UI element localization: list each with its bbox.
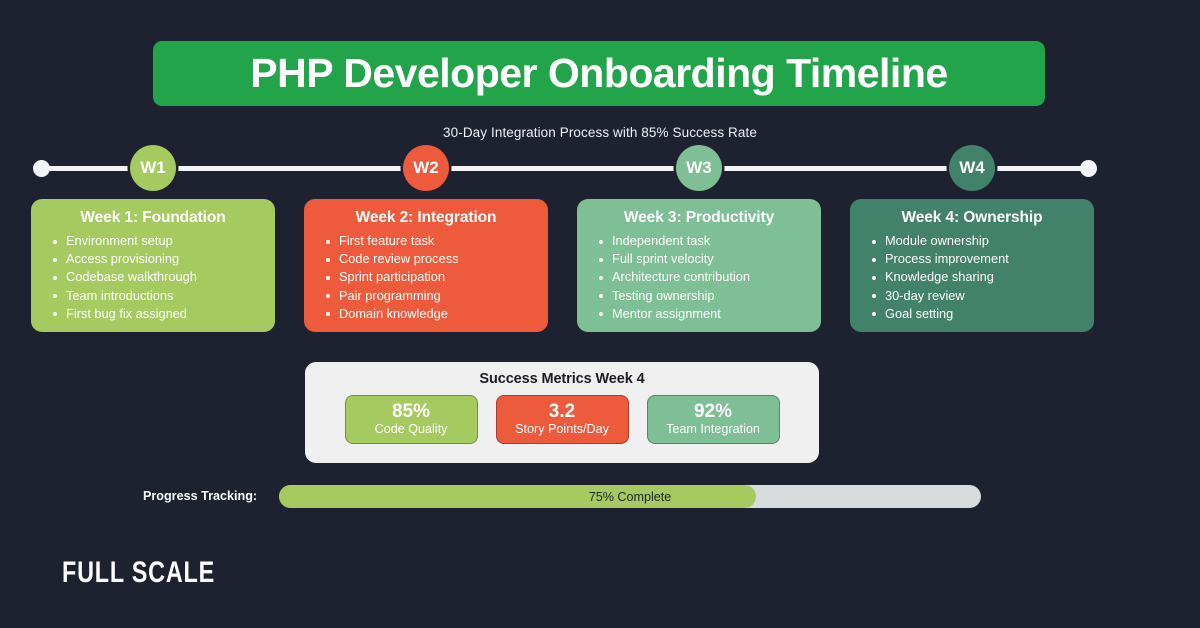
timeline-node-label: W4 [959,158,985,178]
list-item: Goal setting [870,305,1084,323]
week-card-title: Week 1: Foundation [31,209,275,227]
list-item: 30-day review [870,287,1084,305]
list-item: Team introductions [51,287,265,305]
timeline-start-dot [33,160,50,177]
list-item: Pair programming [324,287,538,305]
list-item: Independent task [597,232,811,250]
week-card-title: Week 3: Productivity [577,209,821,227]
metric-value: 85% [392,402,430,422]
timeline-node-label: W2 [413,158,439,178]
list-item: Codebase walkthrough [51,268,265,286]
week-card-3[interactable]: Week 3: Productivity Independent task Fu… [577,199,821,332]
brand-logo: FULL SCALE [62,556,215,590]
list-item: Access provisioning [51,250,265,268]
week-card-list: Independent task Full sprint velocity Ar… [577,232,821,323]
list-item: Knowledge sharing [870,268,1084,286]
week-card-1[interactable]: Week 1: Foundation Environment setup Acc… [31,199,275,332]
metric-value: 92% [694,402,732,422]
progress-tracking: Progress Tracking: 75% Complete [0,485,1200,509]
list-item: Code review process [324,250,538,268]
metric-value: 3.2 [549,402,575,422]
week-card-list: Environment setup Access provisioning Co… [31,232,275,323]
list-item: Process improvement [870,250,1084,268]
timeline-node-w2[interactable]: W2 [403,145,449,191]
list-item: Testing ownership [597,287,811,305]
progress-bar-text: 75% Complete [279,485,981,508]
timeline-node-w4[interactable]: W4 [949,145,995,191]
metric-card-code-quality[interactable]: 85% Code Quality [345,395,478,444]
metric-card-team-integration[interactable]: 92% Team Integration [647,395,780,444]
page-title: PHP Developer Onboarding Timeline [250,50,947,97]
list-item: Mentor assignment [597,305,811,323]
timeline-node-label: W3 [686,158,712,178]
week-card-title: Week 2: Integration [304,209,548,227]
timeline-end-dot [1080,160,1097,177]
list-item: Full sprint velocity [597,250,811,268]
list-item: First bug fix assigned [51,305,265,323]
week-card-2[interactable]: Week 2: Integration First feature task C… [304,199,548,332]
list-item: Sprint participation [324,268,538,286]
timeline-line [36,166,1090,171]
page-subtitle: 30-Day Integration Process with 85% Succ… [0,125,1200,140]
list-item: First feature task [324,232,538,250]
metric-label: Team Integration [666,422,760,437]
infographic-canvas: PHP Developer Onboarding Timeline 30-Day… [0,0,1200,628]
week-card-title: Week 4: Ownership [850,209,1094,227]
week-card-list: Module ownership Process improvement Kno… [850,232,1094,323]
list-item: Module ownership [870,232,1084,250]
metric-label: Story Points/Day [515,422,609,437]
metric-card-story-points[interactable]: 3.2 Story Points/Day [496,395,629,444]
progress-label: Progress Tracking: [143,489,257,503]
timeline: W1 W2 W3 W4 [0,145,1200,193]
week-card-4[interactable]: Week 4: Ownership Module ownership Proce… [850,199,1094,332]
timeline-node-label: W1 [140,158,166,178]
list-item: Environment setup [51,232,265,250]
timeline-node-w3[interactable]: W3 [676,145,722,191]
list-item: Domain knowledge [324,305,538,323]
metrics-panel-title: Success Metrics Week 4 [305,371,819,387]
metrics-row: 85% Code Quality 3.2 Story Points/Day 92… [305,395,819,444]
list-item: Architecture contribution [597,268,811,286]
timeline-node-w1[interactable]: W1 [130,145,176,191]
success-metrics-panel: Success Metrics Week 4 85% Code Quality … [305,362,819,463]
title-banner: PHP Developer Onboarding Timeline [153,41,1045,106]
metric-label: Code Quality [375,422,448,437]
week-card-list: First feature task Code review process S… [304,232,548,323]
